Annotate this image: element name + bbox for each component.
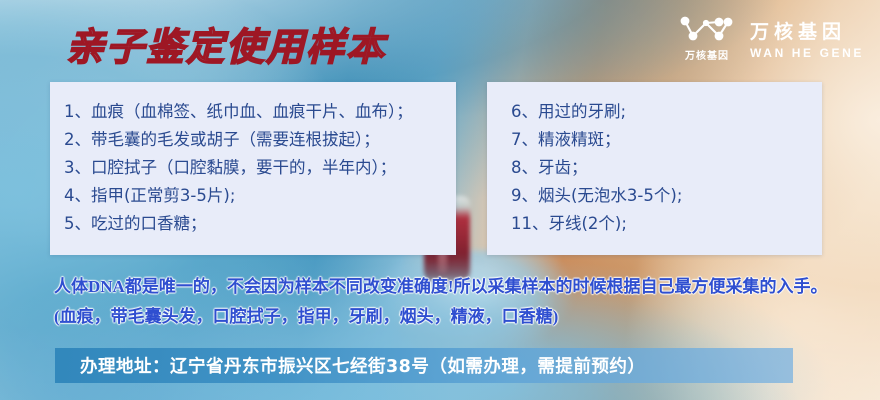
sample-list-left: 1、血痕（血棉签、纸巾血、血痕干片、血布）； 2、带毛囊的毛发或胡子（需要连根拔… bbox=[50, 82, 456, 238]
address-bar: 办理地址：辽宁省丹东市振兴区七经街38号（如需办理，需提前预约） bbox=[55, 348, 793, 383]
poster: 亲子鉴定使用样本 万核 bbox=[0, 0, 880, 400]
list-item: 5、吃过的口香糖； bbox=[64, 210, 456, 238]
brand-mark: 万核基因 bbox=[678, 14, 736, 62]
brand-mark-label: 万核基因 bbox=[685, 47, 729, 62]
molecule-icon bbox=[678, 14, 736, 44]
sample-list-panel-left: 1、血痕（血棉签、纸巾血、血痕干片、血布）； 2、带毛囊的毛发或胡子（需要连根拔… bbox=[50, 82, 456, 255]
list-item: 1、血痕（血棉签、纸巾血、血痕干片、血布）； bbox=[64, 98, 456, 126]
dna-note-text: 人体DNA都是唯一的，不会因为样本不同改变准确度!所以采集样本的时候根据自己最方… bbox=[54, 272, 844, 332]
brand-name-en: WAN HE GENE bbox=[750, 46, 864, 60]
list-item: 3、口腔拭子（口腔黏膜，要干的，半年内）； bbox=[64, 154, 456, 182]
list-item: 8、牙齿； bbox=[511, 154, 822, 182]
list-item: 6、用过的牙刷; bbox=[511, 98, 822, 126]
list-item: 11、牙线(2个); bbox=[511, 210, 822, 238]
list-item: 2、带毛囊的毛发或胡子（需要连根拔起）； bbox=[64, 126, 456, 154]
brand-logo: 万核基因 万核基因 WAN HE GENE bbox=[678, 14, 864, 62]
list-item: 4、指甲(正常剪3-5片); bbox=[64, 182, 456, 210]
sample-list-right: 6、用过的牙刷; 7、精液精斑； 8、牙齿； 9、烟头(无泡水3-5个); 11… bbox=[487, 82, 822, 238]
page-title: 亲子鉴定使用样本 bbox=[66, 16, 386, 71]
sample-list-panel-right: 6、用过的牙刷; 7、精液精斑； 8、牙齿； 9、烟头(无泡水3-5个); 11… bbox=[487, 82, 822, 255]
list-item: 7、精液精斑； bbox=[511, 126, 822, 154]
list-item: 9、烟头(无泡水3-5个); bbox=[511, 182, 822, 210]
brand-words: 万核基因 WAN HE GENE bbox=[750, 17, 864, 60]
address-bar-text: 办理地址：辽宁省丹东市振兴区七经街38号（如需办理，需提前预约） bbox=[55, 353, 645, 378]
brand-name-cn: 万核基因 bbox=[750, 17, 846, 44]
